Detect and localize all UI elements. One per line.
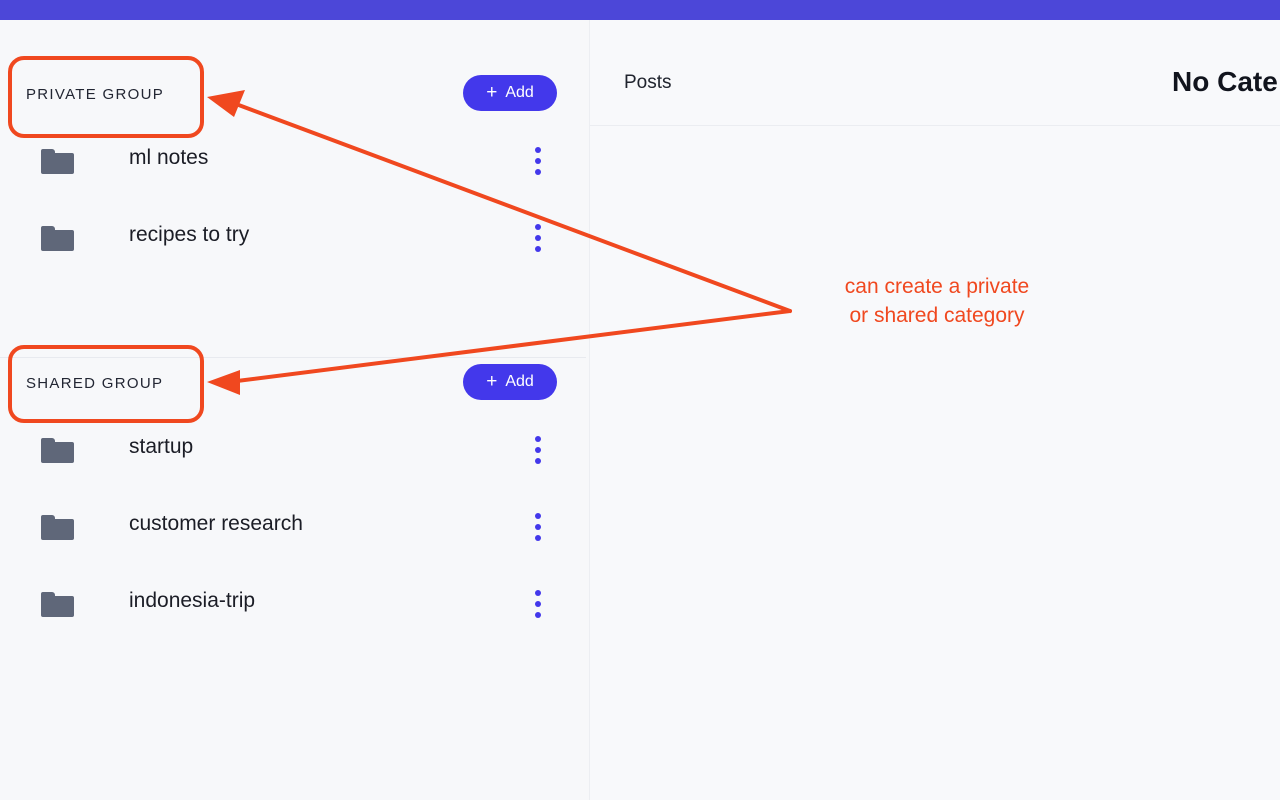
group-title-private: PRIVATE GROUP xyxy=(26,86,164,103)
page-body: PRIVATE GROUP + Add ml notes xyxy=(0,20,1280,800)
main-content: Posts No Cate xyxy=(590,20,1280,800)
group-divider xyxy=(0,357,586,358)
category-sidebar: PRIVATE GROUP + Add ml notes xyxy=(0,20,590,800)
main-header: Posts No Cate xyxy=(590,20,1280,125)
header-divider xyxy=(590,125,1280,126)
folder-icon xyxy=(41,149,74,174)
tab-posts[interactable]: Posts xyxy=(624,72,672,94)
sidebar-group-shared: SHARED GROUP + Add startup xyxy=(0,361,590,642)
add-private-category-button[interactable]: + Add xyxy=(463,75,557,111)
folder-icon xyxy=(41,226,74,251)
list-item-label: recipes to try xyxy=(129,223,249,247)
shared-folder-list: startup customer research xyxy=(0,411,590,642)
list-item-label: indonesia-trip xyxy=(129,589,255,613)
list-item[interactable]: startup xyxy=(0,411,590,488)
folder-icon xyxy=(41,515,74,540)
plus-icon: + xyxy=(486,83,497,102)
more-vertical-icon[interactable] xyxy=(528,513,548,543)
add-shared-category-button[interactable]: + Add xyxy=(463,364,557,400)
private-folder-list: ml notes recipes to try xyxy=(0,122,590,276)
more-vertical-icon[interactable] xyxy=(528,590,548,620)
add-button-label: Add xyxy=(505,373,533,391)
list-item-label: startup xyxy=(129,435,193,459)
more-vertical-icon[interactable] xyxy=(528,224,548,254)
more-vertical-icon[interactable] xyxy=(528,436,548,466)
group-title-shared: SHARED GROUP xyxy=(26,375,163,392)
folder-icon xyxy=(41,592,74,617)
group-header-shared: SHARED GROUP + Add xyxy=(0,361,590,411)
page-title: No Cate xyxy=(1172,66,1278,98)
more-vertical-icon[interactable] xyxy=(528,147,548,177)
top-app-bar xyxy=(0,0,1280,20)
sidebar-group-private: PRIVATE GROUP + Add ml notes xyxy=(0,72,590,276)
list-item[interactable]: recipes to try xyxy=(0,199,590,276)
group-header-private: PRIVATE GROUP + Add xyxy=(0,72,590,122)
add-button-label: Add xyxy=(505,84,533,102)
list-item-label: ml notes xyxy=(129,146,208,170)
list-item-label: customer research xyxy=(129,512,303,536)
plus-icon: + xyxy=(486,372,497,391)
folder-icon xyxy=(41,438,74,463)
list-item[interactable]: customer research xyxy=(0,488,590,565)
list-item[interactable]: indonesia-trip xyxy=(0,565,590,642)
list-item[interactable]: ml notes xyxy=(0,122,590,199)
